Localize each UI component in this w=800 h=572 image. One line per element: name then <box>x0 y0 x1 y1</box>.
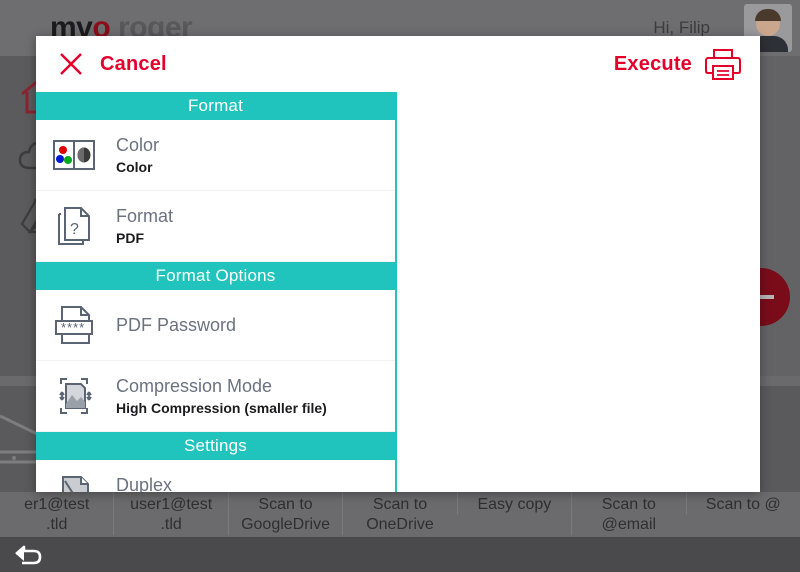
section-header-format: Format <box>36 92 395 120</box>
setting-row-compression[interactable]: Compression Mode High Compression (small… <box>36 361 395 432</box>
back-arrow-icon[interactable] <box>12 541 42 569</box>
tile-label[interactable]: user1@test .tld <box>113 492 227 535</box>
setting-text: Compression Mode High Compression (small… <box>100 375 327 418</box>
setting-label: Duplex <box>116 474 172 493</box>
setting-text: PDF Password <box>100 313 236 337</box>
scan-settings-dialog: Cancel Execute Format <box>36 36 760 492</box>
setting-row-format[interactable]: ? Format PDF <box>36 191 395 262</box>
avatar-hair <box>755 9 781 21</box>
color-mode-icon <box>48 132 100 178</box>
background-bottom-bar <box>0 537 800 572</box>
setting-label: Compression Mode <box>116 375 327 397</box>
tile-label[interactable]: Scan to @email <box>571 492 685 535</box>
setting-row-color[interactable]: Color Color <box>36 120 395 191</box>
setting-label: Color <box>116 134 159 156</box>
tile-label[interactable]: Scan to OneDrive <box>342 492 456 535</box>
setting-label: PDF Password <box>116 313 236 337</box>
close-x-icon <box>56 49 86 79</box>
setting-text: Duplex 1-sided <box>100 474 172 493</box>
cancel-button[interactable]: Cancel <box>56 46 167 82</box>
tile-label[interactable]: Scan to @ <box>686 492 800 515</box>
user-greeting: Hi, Filip <box>653 18 710 38</box>
setting-row-pdf-password[interactable]: **** PDF Password <box>36 290 395 361</box>
section-header-settings: Settings <box>36 432 395 460</box>
tile-label[interactable]: er1@test .tld <box>0 492 113 535</box>
printer-icon <box>704 47 742 81</box>
compression-icon <box>48 373 100 419</box>
settings-detail-panel <box>397 92 760 492</box>
screen-root: er1@test .tld user1@test .tld Scan to Go… <box>0 0 800 572</box>
execute-button-label: Execute <box>614 53 692 76</box>
setting-label: Format <box>116 205 173 227</box>
dialog-header: Cancel Execute <box>36 36 760 92</box>
svg-text:?: ? <box>70 221 79 238</box>
setting-text: Color Color <box>100 134 159 177</box>
setting-value: High Compression (smaller file) <box>116 397 327 418</box>
svg-text:****: **** <box>61 320 85 335</box>
section-header-format-options: Format Options <box>36 262 395 290</box>
settings-list[interactable]: Format Color <box>36 92 397 492</box>
duplex-icon <box>48 472 100 492</box>
dialog-body: Format Color <box>36 92 760 492</box>
execute-button[interactable]: Execute <box>614 46 742 82</box>
setting-text: Format PDF <box>100 205 173 248</box>
background-tile-labels: er1@test .tld user1@test .tld Scan to Go… <box>0 492 800 537</box>
setting-row-duplex[interactable]: Duplex 1-sided <box>36 460 395 492</box>
setting-value: PDF <box>116 227 173 248</box>
pdf-password-icon: **** <box>48 302 100 348</box>
tile-label[interactable]: Scan to GoogleDrive <box>228 492 342 535</box>
cancel-button-label: Cancel <box>100 53 167 76</box>
tile-label[interactable]: Easy copy <box>457 492 571 515</box>
file-format-icon: ? <box>48 203 100 249</box>
setting-value: Color <box>116 156 159 177</box>
